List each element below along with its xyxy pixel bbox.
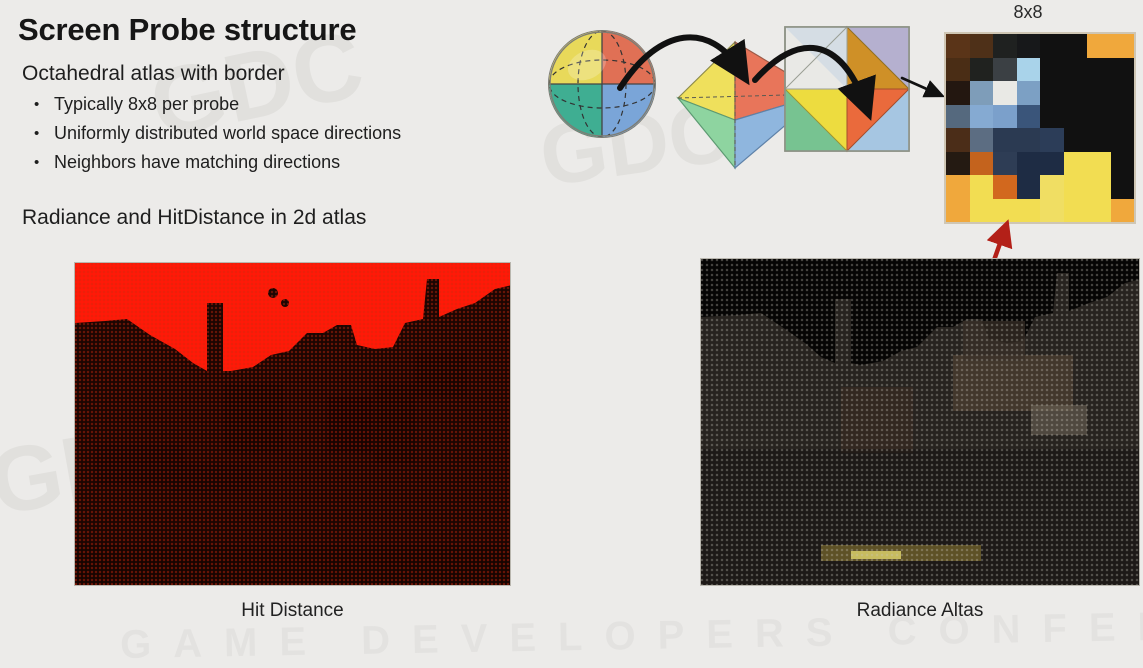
probe-pixel-0-2 (993, 34, 1017, 58)
probe-pixel-3-5 (1064, 105, 1088, 129)
probe-pixel-0-0 (946, 34, 970, 58)
probe-pixel-2-2 (993, 81, 1017, 105)
probe-pixel-3-6 (1087, 105, 1111, 129)
probe-pixel-3-3 (1017, 105, 1041, 129)
probe-pixel-1-6 (1087, 58, 1111, 82)
probe-pixel-2-6 (1087, 81, 1111, 105)
probe-pixel-2-3 (1017, 81, 1041, 105)
slide-subheading: Radiance and HitDistance in 2d atlas (22, 206, 366, 230)
probe-pixel-4-5 (1064, 128, 1088, 152)
probe-pixel-7-5 (1064, 199, 1088, 223)
probe-8x8-grid (944, 32, 1136, 224)
probe-pixel-5-6 (1087, 152, 1111, 176)
slide-lead-line: Octahedral atlas with border (22, 62, 285, 86)
probe-pixel-4-7 (1111, 128, 1135, 152)
probe-pixel-2-5 (1064, 81, 1088, 105)
probe-pixel-6-2 (993, 175, 1017, 199)
probe-pixel-5-5 (1064, 152, 1088, 176)
probe-pixel-6-0 (946, 175, 970, 199)
probe-pixel-2-4 (1040, 81, 1064, 105)
probe-pixel-7-4 (1040, 199, 1064, 223)
probe-pixel-0-3 (1017, 34, 1041, 58)
probe-pixel-5-1 (970, 152, 994, 176)
hit-distance-atlas (74, 262, 511, 586)
probe-pixel-3-7 (1111, 105, 1135, 129)
probe-pixel-3-2 (993, 105, 1017, 129)
probe-pixel-6-7 (1111, 175, 1135, 199)
probe-pixel-4-0 (946, 128, 970, 152)
probe-pixel-2-1 (970, 81, 994, 105)
radiance-atlas (700, 258, 1140, 586)
probe-pixel-4-3 (1017, 128, 1041, 152)
list-item: • Uniformly distributed world space dire… (26, 119, 401, 148)
probe-pixel-7-7 (1111, 199, 1135, 223)
list-item-label: Typically 8x8 per probe (54, 94, 239, 114)
probe-pixel-7-1 (970, 199, 994, 223)
probe-pixel-5-7 (1111, 152, 1135, 176)
hit-distance-probe-dot-grid (75, 263, 510, 585)
probe-pixel-0-6 (1087, 34, 1111, 58)
probe-pixel-3-0 (946, 105, 970, 129)
probe-pixel-1-7 (1111, 58, 1135, 82)
grid-size-label: 8x8 (988, 2, 1068, 23)
probe-pixel-3-4 (1040, 105, 1064, 129)
probe-pixel-6-6 (1087, 175, 1111, 199)
probe-dot-lattice (75, 263, 510, 585)
list-item: • Typically 8x8 per probe (26, 90, 401, 119)
probe-pixel-5-3 (1017, 152, 1041, 176)
probe-pixel-5-0 (946, 152, 970, 176)
list-item: • Neighbors have matching directions (26, 148, 401, 177)
probe-pixel-1-2 (993, 58, 1017, 82)
probe-pixel-7-2 (993, 199, 1017, 223)
probe-pixel-7-0 (946, 199, 970, 223)
probe-pixel-4-1 (970, 128, 994, 152)
radiance-atlas-caption: Radiance Altas (700, 600, 1140, 622)
probe-pixel-4-6 (1087, 128, 1111, 152)
slide-title: Screen Probe structure (18, 12, 356, 48)
hit-distance-caption: Hit Distance (74, 600, 511, 622)
probe-pixel-1-4 (1040, 58, 1064, 82)
probe-pixel-6-5 (1064, 175, 1088, 199)
list-item-label: Uniformly distributed world space direct… (54, 123, 401, 143)
probe-pixel-1-1 (970, 58, 994, 82)
probe-dot-lattice (701, 259, 1139, 585)
probe-pixel-0-7 (1111, 34, 1135, 58)
bullet-list: • Typically 8x8 per probe • Uniformly di… (26, 90, 401, 177)
probe-pixel-5-2 (993, 152, 1017, 176)
list-item-label: Neighbors have matching directions (54, 152, 340, 172)
probe-pixel-0-1 (970, 34, 994, 58)
probe-pixel-4-2 (993, 128, 1017, 152)
probe-pixel-1-5 (1064, 58, 1088, 82)
probe-pixel-0-4 (1040, 34, 1064, 58)
probe-pixel-2-0 (946, 81, 970, 105)
probe-pixel-6-4 (1040, 175, 1064, 199)
probe-pixel-0-5 (1064, 34, 1088, 58)
probe-pixel-1-0 (946, 58, 970, 82)
radiance-probe-dot-grid (701, 259, 1139, 585)
probe-pixel-2-7 (1111, 81, 1135, 105)
probe-pixel-5-4 (1040, 152, 1064, 176)
probe-pixel-4-4 (1040, 128, 1064, 152)
probe-pixel-1-3 (1017, 58, 1041, 82)
probe-pixel-7-6 (1087, 199, 1111, 223)
bullet-glyph-icon: • (34, 90, 39, 119)
probe-pixel-6-3 (1017, 175, 1041, 199)
probe-pixel-3-1 (970, 105, 994, 129)
probe-pixel-6-1 (970, 175, 994, 199)
bullet-glyph-icon: • (34, 119, 39, 148)
probe-pixel-7-3 (1017, 199, 1041, 223)
bullet-glyph-icon: • (34, 148, 39, 177)
